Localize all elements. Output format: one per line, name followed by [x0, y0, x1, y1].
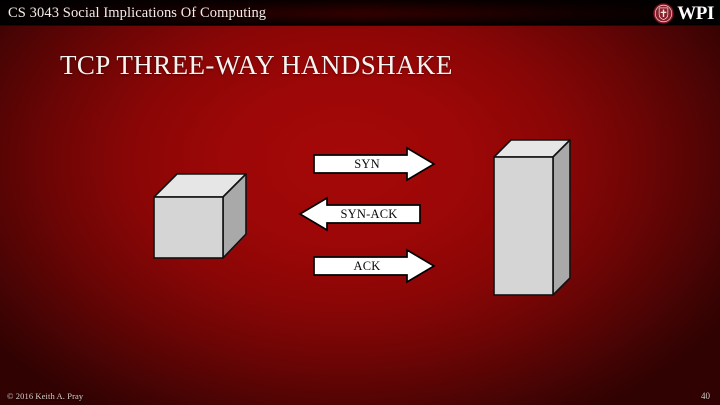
wpi-seal-icon — [653, 3, 674, 24]
arrow-label-syn-ack: SYN-ACK — [298, 196, 422, 232]
course-title: CS 3043 Social Implications Of Computing — [8, 2, 266, 24]
banner-divider — [0, 25, 720, 26]
footer-copyright: © 2016 Keith A. Pray — [7, 391, 83, 401]
wpi-logo: WPI — [653, 1, 714, 25]
message-arrow-syn-ack: SYN-ACK — [298, 196, 422, 232]
slide-number: 40 — [701, 391, 710, 401]
page-title: TCP Three-Way Handshake — [60, 48, 453, 82]
arrow-left-icon — [298, 196, 422, 232]
arrow-right-icon — [312, 248, 436, 284]
server-node — [492, 138, 572, 298]
arrow-label-syn: SYN — [312, 146, 436, 182]
client-node — [152, 172, 248, 260]
cube-icon — [152, 172, 248, 260]
arrow-right-icon — [312, 146, 436, 182]
presentation-slide: CS 3043 Social Implications Of Computing… — [0, 0, 720, 405]
tower-icon — [492, 138, 572, 298]
wpi-wordmark: WPI — [677, 3, 714, 24]
message-arrow-ack: ACK — [312, 248, 436, 284]
arrow-label-ack: ACK — [312, 248, 436, 284]
message-arrow-syn: SYN — [312, 146, 436, 182]
